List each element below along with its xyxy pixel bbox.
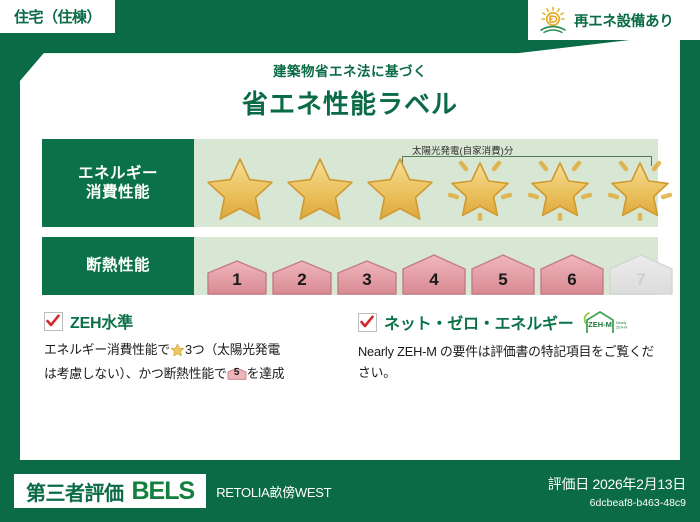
label-panel: 建築物省エネ法に基づく 省エネ性能ラベル エネルギー 消費性能 太陽光発電(自家… (20, 34, 680, 460)
insulation-grade-scale: 1 2 3 (194, 237, 674, 295)
page-subtitle: 建築物省エネ法に基づく (20, 60, 680, 80)
energy-label-root: 住宅（住棟） 再エネ設備あり (0, 0, 700, 522)
checkbox-checked-icon (358, 313, 377, 332)
performance-rows: エネルギー 消費性能 太陽光発電(自家消費)分 (20, 139, 680, 295)
project-name: RETOLIA畝傍WEST (216, 482, 331, 501)
star-filled-2 (282, 153, 358, 221)
insulation-grade-7-value: 7 (608, 270, 674, 290)
renewable-badge-label: 再エネ設備あり (574, 10, 673, 31)
solar-sun-icon (538, 6, 568, 34)
insulation-grade-5-value: 5 (470, 270, 536, 290)
insulation-grade-1-value: 1 (206, 270, 268, 290)
note-zeh-standard-title: ZEH水準 (70, 309, 133, 333)
inline-star-icon (170, 342, 185, 363)
category-tag-label: 住宅（住棟） (14, 6, 101, 27)
insulation-grade-5: 5 (470, 253, 536, 295)
insulation-grade-2-value: 2 (271, 270, 333, 290)
page-title: 省エネ性能ラベル (20, 84, 680, 121)
star-rating (194, 153, 678, 221)
star-filled-3 (362, 153, 438, 221)
star-solar-5 (522, 153, 598, 221)
star-solar-6 (602, 153, 678, 221)
note-zeh-text-part1: エネルギー消費性能で (44, 342, 170, 357)
checkbox-checked-icon (44, 312, 63, 331)
svg-text:ZEH-M: ZEH-M (616, 326, 627, 330)
category-tag: 住宅（住棟） (0, 0, 115, 33)
note-zeh-text-part3: は考慮しない）、かつ断熱性能で (44, 366, 227, 381)
energy-row-label-line1: エネルギー (78, 164, 158, 183)
note-net-zero-energy: ネット・ゼロ・エネルギー ZEH-M Nearly ZEH-M Nearly Z… (358, 309, 656, 384)
energy-performance-row: エネルギー 消費性能 太陽光発電(自家消費)分 (42, 139, 658, 227)
insulation-grade-1: 1 (206, 259, 268, 295)
insulation-grade-2: 2 (271, 259, 333, 295)
insulation-grade-3: 3 (336, 259, 398, 295)
star-filled-1 (202, 153, 278, 221)
inline-grade-badge-value: 5 (227, 365, 247, 382)
insulation-performance-row: 断熱性能 (42, 237, 658, 295)
insulation-grade-4-value: 4 (401, 270, 467, 290)
bels-certification-mark: 第三者評価 BELS (14, 474, 206, 508)
energy-row-label: エネルギー 消費性能 (42, 139, 194, 227)
insulation-grade-6-value: 6 (539, 270, 605, 290)
insulation-grade-4: 4 (401, 253, 467, 295)
label-footer: 第三者評価 BELS RETOLIA畝傍WEST 評価日 2026年2月13日 … (0, 460, 700, 522)
energy-row-label-line2: 消費性能 (86, 183, 150, 202)
note-zeh-text-part4: を達成 (247, 366, 285, 381)
bels-jp-label: 第三者評価 (26, 477, 124, 506)
insulation-grade-3-value: 3 (336, 270, 398, 290)
evaluation-info: 評価日 2026年2月13日 6dcbeaf8-b463-48c9 (548, 474, 686, 509)
note-zeh-standard-body: エネルギー消費性能で 3つ（太陽光発電は考慮しない）、かつ断熱性能で 5 を達成 (44, 339, 342, 384)
note-net-zero-body: Nearly ZEH-M の要件は評価書の特記項目をご覧ください。 (358, 341, 656, 383)
zeh-m-logo-icon: ZEH-M Nearly ZEH-M (583, 309, 627, 335)
energy-row-value: 太陽光発電(自家消費)分 (194, 139, 678, 227)
note-zeh-standard: ZEH水準 エネルギー消費性能で 3つ（太陽光発電は考慮しない）、かつ断熱性能で… (44, 309, 342, 384)
svg-text:Nearly: Nearly (616, 321, 627, 325)
criteria-notes: ZEH水準 エネルギー消費性能で 3つ（太陽光発電は考慮しない）、かつ断熱性能で… (20, 295, 680, 384)
star-solar-4 (442, 153, 518, 221)
note-net-zero-header: ネット・ゼロ・エネルギー ZEH-M Nearly ZEH-M (358, 309, 656, 335)
evaluation-date: 評価日 2026年2月13日 (548, 474, 686, 494)
insulation-grade-7: 7 (608, 253, 674, 295)
renewable-energy-badge: 再エネ設備あり (528, 0, 700, 40)
insulation-row-label: 断熱性能 (42, 237, 194, 295)
page-title-block: 建築物省エネ法に基づく 省エネ性能ラベル (20, 60, 680, 121)
note-net-zero-title: ネット・ゼロ・エネルギー (384, 310, 574, 334)
note-zeh-text-part2: 3つ（太陽光発電 (185, 342, 280, 357)
bels-en-label: BELS (132, 477, 195, 506)
evaluation-id: 6dcbeaf8-b463-48c9 (548, 497, 686, 509)
insulation-row-label-text: 断熱性能 (86, 256, 150, 275)
inline-grade-badge: 5 (227, 365, 247, 382)
svg-text:ZEH-M: ZEH-M (588, 320, 612, 329)
insulation-grade-6: 6 (539, 253, 605, 295)
insulation-row-value: 1 2 3 (194, 237, 674, 295)
note-zeh-standard-header: ZEH水準 (44, 309, 342, 333)
